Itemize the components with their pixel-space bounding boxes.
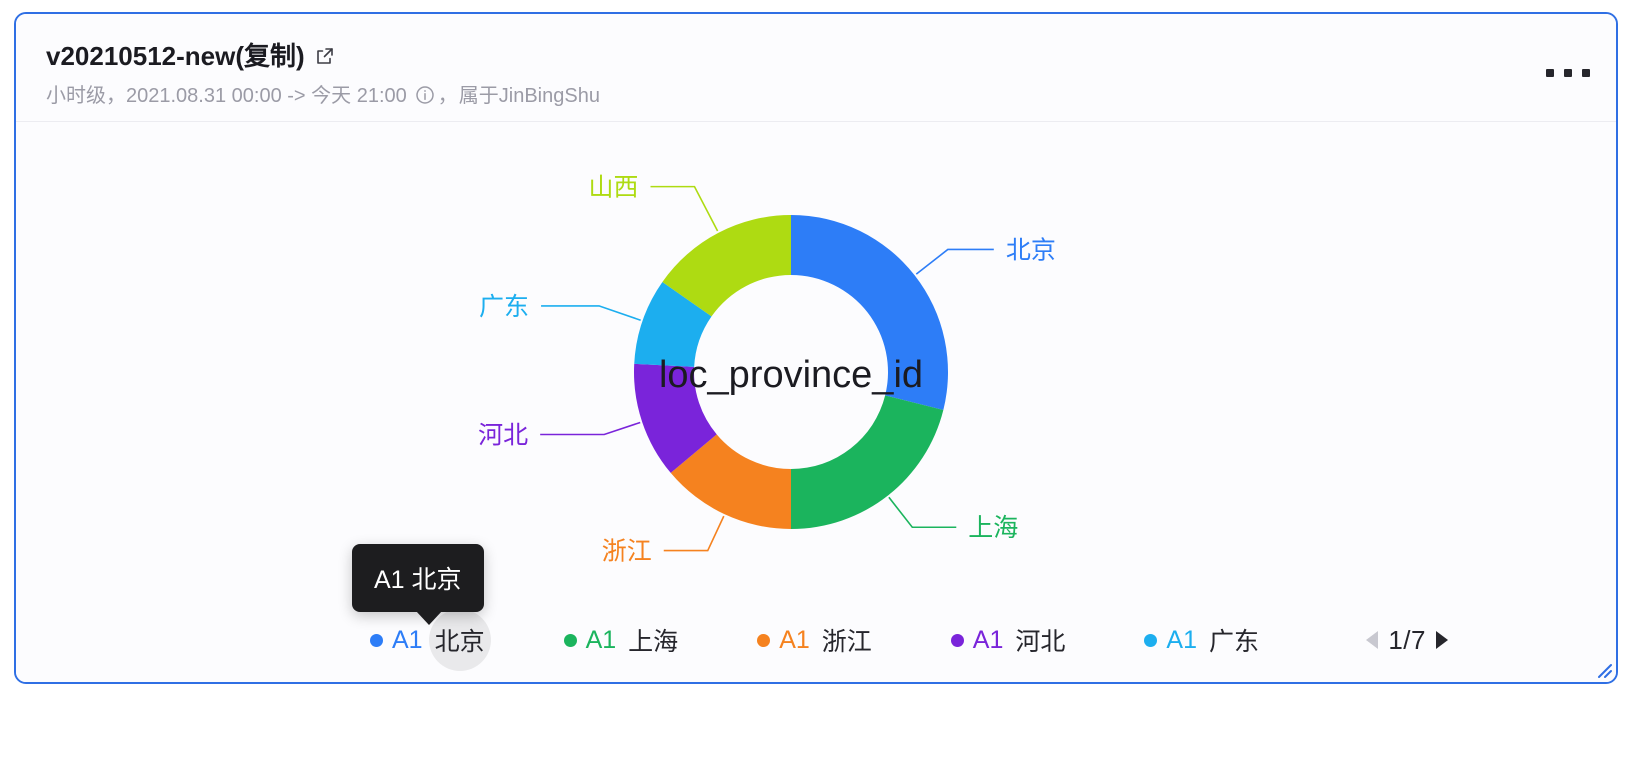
card-subtitle: 小时级， 2021.08.31 00:00 -> 今天 21:00 ， 属于Ji… [46,79,1586,108]
leader-line-1 [889,497,956,527]
legend-item-北京[interactable]: A1北京A1 北京 [370,622,488,658]
card-header: v20210512-new(复制) 小时级， 2021.08.31 00:00 … [16,14,1616,122]
legend-color-dot [1144,634,1157,647]
more-options-button[interactable] [1546,60,1590,86]
subtitle-granularity: 小时级， [46,79,126,108]
legend-category-label: 北京 [432,622,488,658]
pagination-next-button[interactable] [1436,631,1448,649]
leader-line-2 [664,516,724,550]
subtitle-time-range: 2021.08.31 00:00 -> 今天 21:00 [126,79,407,108]
legend-category-label: 河北 [1012,622,1068,658]
slice-label-上海: 上海 [968,514,1018,542]
legend-color-dot [564,634,577,647]
legend-tooltip: A1 北京 [352,544,484,612]
legend-color-dot [951,634,964,647]
info-icon[interactable] [415,85,435,105]
dashboard-canvas: v20210512-new(复制) 小时级， 2021.08.31 00:00 … [0,0,1652,768]
slice-label-北京: 北京 [1006,236,1056,264]
legend-series-label: A1 [1166,626,1197,655]
leader-line-0 [916,249,994,274]
legend-item-河北[interactable]: A1河北 [951,622,1069,658]
more-dot-2 [1564,69,1572,77]
legend-category-label: 广东 [1206,622,1262,658]
legend-color-dot [757,634,770,647]
legend-color-dot [370,634,383,647]
slice-label-山西: 山西 [588,174,638,202]
slice-label-广东: 广东 [479,293,529,321]
leader-line-3 [540,422,640,434]
legend-pagination: 1/7 [1366,620,1448,660]
subtitle-owner: 属于JinBingShu [459,79,600,108]
donut-center-label: loc_province_id [659,354,923,396]
more-dot-3 [1582,69,1590,77]
slice-label-河北: 河北 [478,422,528,450]
pagination-indicator: 1/7 [1388,625,1426,656]
legend-series-label: A1 [973,626,1004,655]
donut-svg: 北京上海浙江河北广东山西 loc_province_id [16,122,1616,622]
title-row: v20210512-new(复制) [46,38,1586,70]
resize-handle[interactable] [1596,662,1612,678]
legend-category-label: 浙江 [819,622,875,658]
leader-line-5 [650,187,717,231]
legend-series-label: A1 [586,626,617,655]
slice-label-浙江: 浙江 [602,538,652,566]
legend-item-上海[interactable]: A1上海 [564,622,682,658]
leader-line-4 [541,306,641,320]
legend-category-label: 上海 [625,622,681,658]
legend-item-广东[interactable]: A1广东 [1144,622,1262,658]
legend-series-label: A1 [392,626,423,655]
legend-item-浙江[interactable]: A1浙江 [757,622,875,658]
subtitle-separator: ， [437,79,459,108]
more-dot-1 [1546,69,1554,77]
donut-slice-1[interactable] [791,395,943,529]
page-title: v20210512-new(复制) [46,36,305,73]
pagination-prev-button[interactable] [1366,631,1378,649]
chart-body: 北京上海浙江河北广东山西 loc_province_id A1北京A1 北京A1… [16,122,1616,684]
chart-card[interactable]: v20210512-new(复制) 小时级， 2021.08.31 00:00 … [14,12,1618,684]
legend-series-label: A1 [779,626,810,655]
donut-chart[interactable]: 北京上海浙江河北广东山西 loc_province_id [16,122,1616,622]
external-link-icon[interactable] [315,46,335,66]
